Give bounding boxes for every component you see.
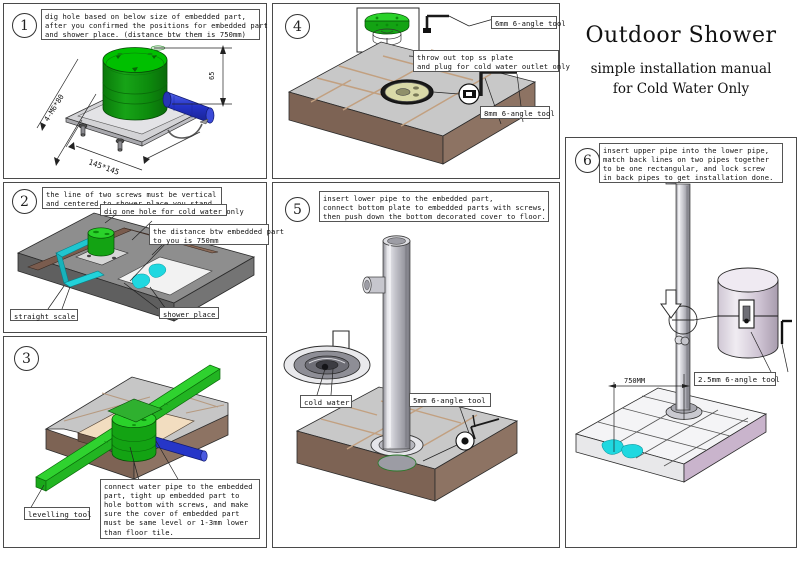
callout-tool-2.5mm: 2.5mm 6-angle tool: [694, 372, 776, 386]
embedded-part-green: [103, 46, 167, 120]
panel1-instruction: dig hole based on below size of embedded…: [41, 9, 260, 40]
tool-6mm-allen-key: [423, 16, 449, 33]
lower-pipe: [383, 236, 410, 449]
cold-water-cover-disc: [284, 346, 370, 384]
callout-shower-place: shower place: [159, 307, 219, 319]
panel6-drawing: 750MM: [566, 138, 798, 549]
panel6-instruction: insert upper pipe into the lower pipe, m…: [599, 143, 783, 183]
floor-slab-6: [576, 388, 766, 482]
panel-step-1: 1 dig hole based on below size of embedd…: [3, 3, 267, 179]
side-outlet-stub: [363, 277, 385, 293]
page-title: Outdoor Shower: [565, 23, 797, 48]
callout-connect-water-pipe: connect water pipe to the embedded part,…: [100, 479, 260, 539]
panel-step-4: 4: [272, 3, 560, 179]
dim-750mm-label: 750MM: [624, 377, 645, 385]
callout-cold-water: cold water: [300, 395, 352, 408]
cold-water-outlet: [381, 80, 433, 104]
tool-8mm-hex-marker: [459, 84, 479, 104]
tool-5mm-marker: [456, 432, 474, 450]
step-number-1: 1: [12, 13, 37, 38]
panel4-drawing: [273, 4, 561, 180]
subtitle-line-2: for Cold Water Only: [613, 81, 749, 97]
panel-step-2: 2 the line of two screws must be vertica…: [3, 182, 267, 333]
callout-levelling-tool: levelling tool: [24, 507, 90, 520]
joint-zoom-drum: [718, 268, 778, 358]
tool-2.5mm-allen-key: [782, 321, 792, 344]
manual-sheet: Outdoor Shower simple installation manua…: [0, 0, 800, 581]
shower-column-pipe: [646, 157, 690, 410]
dim-65: 65: [208, 72, 216, 80]
panel-step-3: 3: [3, 336, 267, 548]
step-number-3: 3: [14, 346, 39, 371]
callout-tool-8mm: 8mm 6-angle tool: [480, 106, 550, 119]
step-number-5: 5: [285, 197, 310, 222]
step-number-4: 4: [285, 14, 310, 39]
step-number-6: 6: [575, 148, 600, 173]
panel5-instruction: insert lower pipe to the embedded part, …: [319, 191, 549, 222]
callout-straight-scale: straight scale: [10, 309, 78, 321]
panel-step-5: 5 insert lower pipe to the embedded part…: [272, 182, 560, 548]
page-subtitle: simple installation manual for Cold Wate…: [565, 59, 797, 99]
callout-throw-out-plate: throw out top ss plate and plug for cold…: [413, 50, 559, 72]
callout-tool-6mm: 6mm 6-angle tool: [491, 16, 557, 29]
callout-distance-750: the distance btw embedded part to you is…: [149, 224, 269, 245]
panel-step-6: 6 insert upper pipe into the lower pipe,…: [565, 137, 797, 548]
callout-tool-5mm: 5mm 6-angle tool: [409, 393, 491, 407]
dim-4m6x80: 4-M6*80: [42, 93, 66, 123]
step-number-2: 2: [12, 189, 37, 214]
title-block: Outdoor Shower simple installation manua…: [565, 3, 797, 133]
subtitle-line-1: simple installation manual: [591, 61, 772, 77]
callout-dig-one-hole: dig one hole for cold water only: [100, 204, 227, 216]
panel5-drawing: [273, 183, 561, 549]
embedded-part-green-3: [108, 399, 162, 462]
